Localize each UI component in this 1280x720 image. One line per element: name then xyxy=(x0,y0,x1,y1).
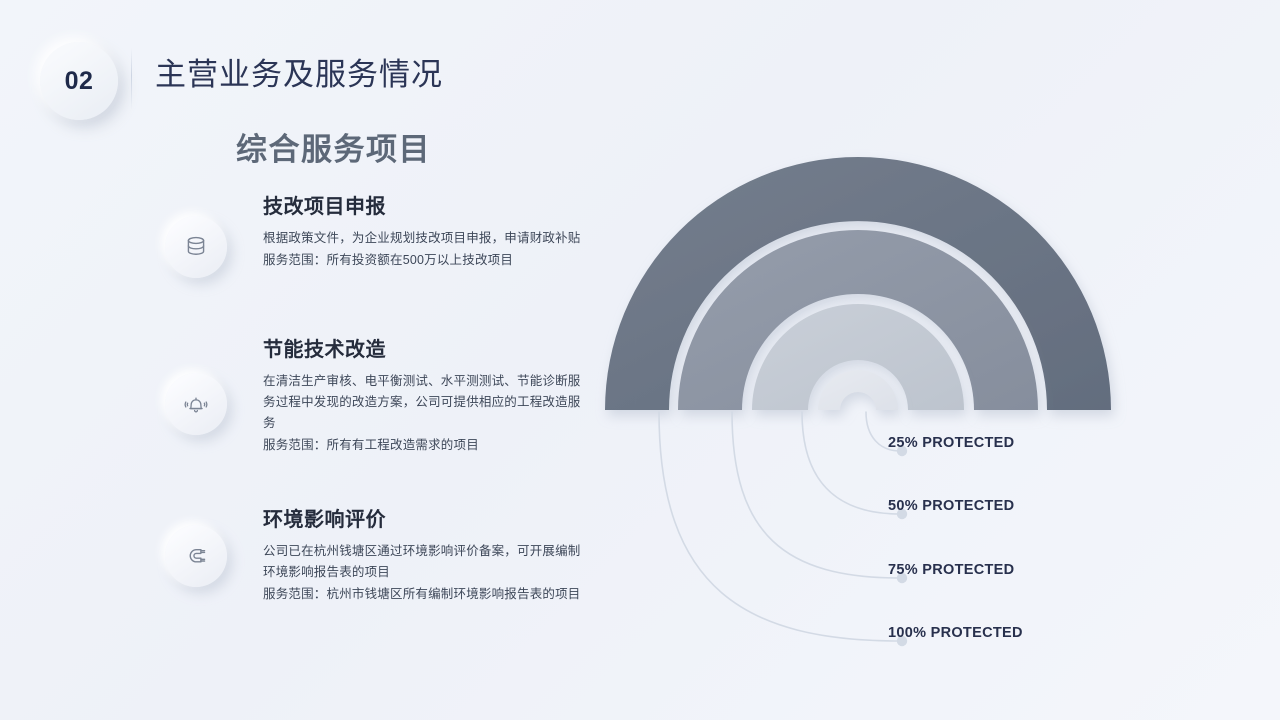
feature-description: 根据政策文件，为企业规划技改项目申报，申请财政补贴 xyxy=(263,228,583,249)
feature-body-1: 技改项目申报 根据政策文件，为企业规划技改项目申报，申请财政补贴 服务范围：所有… xyxy=(263,190,583,271)
feature-body-2: 节能技术改造 在清洁生产审核、电平衡测试、水平测测试、节能诊断服务过程中发现的改… xyxy=(263,333,583,456)
connector-dots xyxy=(897,446,907,646)
feature-description: 公司已在杭州钱塘区通过环境影响评价备案，可开展编制环境影响报告表的项目 xyxy=(263,541,583,583)
legend-label-50: 50% PROTECTED xyxy=(888,498,1014,514)
page-title: 主营业务及服务情况 xyxy=(155,49,443,94)
database-icon xyxy=(165,216,227,278)
connector-100 xyxy=(659,412,900,641)
header-divider xyxy=(131,48,132,110)
connector-lines xyxy=(659,412,900,641)
legend-label-75: 75% PROTECTED xyxy=(888,562,1014,578)
feature-body-3: 环境影响评价 公司已在杭州钱塘区通过环境影响评价备案，可开展编制环境影响报告表的… xyxy=(263,503,583,605)
connector-50 xyxy=(802,412,900,514)
slide-header: 02 主营业务及服务情况 综合服务项目 xyxy=(0,0,1280,120)
feature-title: 环境影响评价 xyxy=(263,503,583,532)
magnet-icon xyxy=(165,525,227,587)
feature-scope: 服务范围：所有投资额在500万以上技改项目 xyxy=(263,250,583,271)
section-number-badge: 02 xyxy=(40,42,118,120)
feature-title: 技改项目申报 xyxy=(263,190,583,219)
section-number-text: 02 xyxy=(65,67,94,96)
feature-description: 在清洁生产审核、电平衡测试、水平测测试、节能诊断服务过程中发现的改造方案，公司可… xyxy=(263,371,583,434)
feature-scope: 服务范围：杭州市钱塘区所有编制环境影响报告表的项目 xyxy=(263,584,583,605)
bell-icon xyxy=(165,373,227,435)
legend-label-25: 25% PROTECTED xyxy=(888,435,1014,451)
radial-arc-chart: 25% PROTECTED 50% PROTECTED 75% PROTECTE… xyxy=(580,125,1280,685)
connector-75 xyxy=(732,412,900,578)
feature-title: 节能技术改造 xyxy=(263,333,583,362)
arc-ring-25 xyxy=(818,370,898,410)
legend-label-100: 100% PROTECTED xyxy=(888,625,1023,641)
page-subtitle: 综合服务项目 xyxy=(236,124,431,169)
feature-scope: 服务范围：所有有工程改造需求的项目 xyxy=(263,435,583,456)
